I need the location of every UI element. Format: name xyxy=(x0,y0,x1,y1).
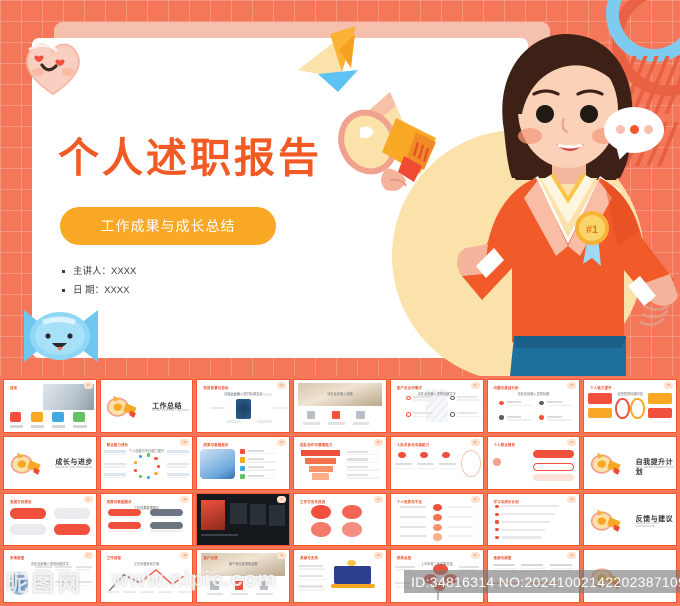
thumbnail-section-subtitle: SELF IMPROVEMENT PLAN xyxy=(636,466,674,469)
slide-thumbnail-19[interactable]: 个人优势与不足15 xyxy=(390,493,484,547)
slide-thumbnail-13[interactable]: 个人职业规划10 xyxy=(487,436,581,490)
watermark-logo: 昵图网 xyxy=(6,566,84,598)
thumbnail-canvas xyxy=(294,380,386,432)
cover-slide-preview[interactable]: #1 个人述职报告 工作成果与成长总结 主讲人 xyxy=(0,0,680,376)
heart-sticker-icon xyxy=(22,38,84,96)
slide-thumbnail-9[interactable]: 职业能力成长个人技能与专业能力提升06 xyxy=(100,436,194,490)
businesswoman-illustration: #1 xyxy=(452,18,680,376)
speech-bubble-tail xyxy=(613,144,632,161)
thumbnail-number-badge: 08 xyxy=(374,439,383,446)
thumbnail-number-badge: 05 xyxy=(664,382,673,389)
thumbnail-number-badge: 02 xyxy=(277,382,286,389)
slide-thumbnail-20[interactable]: 学习与成长计划16 xyxy=(487,493,581,547)
watermark-id: ID:34816314 NO:20241002142202387109 xyxy=(404,570,680,593)
slide-thumbnail-10[interactable]: 成果与数据展示07 xyxy=(196,436,290,490)
thumbnail-number-badge: 07 xyxy=(277,439,286,446)
bubble-dot-2 xyxy=(630,125,639,134)
slide-thumbnail-5[interactable]: 客户与合作情况请在此处输入您的标题文字03 xyxy=(390,379,484,433)
thumbnail-title: 成果总结 xyxy=(397,555,411,560)
meta-date: 日 期：XXXX xyxy=(73,281,130,300)
subtitle-pill-button[interactable]: 工作成果与成长总结 xyxy=(60,207,276,245)
thumbnail-number-badge: 13 xyxy=(277,496,286,503)
thumbnail-number-badge: 22 xyxy=(567,552,576,559)
thumbnail-section-subtitle: GROWTH AND PROGRESS xyxy=(55,466,92,469)
thumbnail-title: 个人职业规划 xyxy=(494,442,516,447)
thumbnail-number-badge: 09 xyxy=(471,439,480,446)
thumbnail-title: 致谢与展望 xyxy=(494,555,512,560)
burst-shard-orange-icon xyxy=(337,32,359,72)
slide-thumbnail-1[interactable]: 目录01 xyxy=(3,379,97,433)
slide-thumbnail-14[interactable]: 自我提升计划SELF IMPROVEMENT PLAN xyxy=(583,436,677,490)
slide-thumbnail-17[interactable]: 13 xyxy=(196,493,290,547)
thumbnail-canvas xyxy=(197,494,289,546)
thumbnail-title: 个人能力提升 xyxy=(590,385,612,390)
thumbnail-title: 未来展望 xyxy=(10,555,24,560)
bubble-dot-3 xyxy=(644,125,653,134)
thumbnail-number-badge: 12 xyxy=(180,496,189,503)
bullet-icon xyxy=(62,270,65,273)
thumbnail-number-badge: 06 xyxy=(180,439,189,446)
slide-thumbnail-11[interactable]: 团队协作与管理能力08 xyxy=(293,436,387,490)
thumbnail-title: 成果与数据展示 xyxy=(107,499,132,504)
thumbnail-section-subtitle: WORK SUMMARY REPORT xyxy=(152,409,189,412)
slide-thumbnail-21[interactable]: 反馈与建议FEEDBACK AND SUGGESTION xyxy=(583,493,677,547)
thumbnail-heading: 请在此处输入标题 xyxy=(327,391,353,396)
thumbnail-heading: 工作流程优化方案 xyxy=(134,561,160,566)
thumbnail-number-badge: 04 xyxy=(567,382,576,389)
page-title: 个人述职报告 xyxy=(58,138,322,179)
thumbnail-number-badge: 21 xyxy=(471,552,480,559)
meta-presenter: 主讲人：XXXX xyxy=(73,262,136,281)
thumbnail-title: 团队协作与管理能力 xyxy=(300,442,332,447)
slide-thumbnail-2[interactable]: 工作总结WORK SUMMARY REPORT xyxy=(100,379,194,433)
thumbnail-heading: 请在此处输入您的标题 xyxy=(517,391,549,396)
slide-thumbnail-12[interactable]: 人际关系与沟通能力09 xyxy=(390,436,484,490)
candy-sticker-icon xyxy=(2,296,118,376)
svg-text:#1: #1 xyxy=(586,224,598,236)
thumbnail-number-badge: 01 xyxy=(84,382,93,389)
thumbnail-number-badge: 10 xyxy=(567,439,576,446)
thumbnail-number-badge: 14 xyxy=(374,496,383,503)
thumbnail-title: 项目背景与目标 xyxy=(203,385,228,390)
thumbnail-number-badge: 03 xyxy=(471,382,480,389)
slide-thumbnail-16[interactable]: 成果与数据展示工作成果数据展示12 xyxy=(100,493,194,547)
slide-thumbnail-7[interactable]: 个人能力提升这是您的标题内容05 xyxy=(583,379,677,433)
watermark-url: www.nipic.com xyxy=(112,568,277,592)
slide-thumbnail-18[interactable]: 工作方法与改进14 xyxy=(293,493,387,547)
thumbnail-number-badge: 20 xyxy=(374,552,383,559)
thumbnail-heading: 请在此处输入您的标题文字 xyxy=(224,391,262,396)
slide-thumbnail-4[interactable]: 请在此处输入标题 xyxy=(293,379,387,433)
bubble-dot-1 xyxy=(616,125,625,134)
thumbnail-heading: 请在此处输入您的标题文字 xyxy=(418,391,456,396)
thumbnail-heading: 这是您的标题内容 xyxy=(617,391,643,396)
thumbnail-title: 客户与合作情况 xyxy=(397,385,422,390)
thumbnail-title: 资源与支持 xyxy=(300,555,318,560)
meta-row-presenter: 主讲人：XXXX xyxy=(62,262,136,281)
thumbnail-number-badge: 16 xyxy=(567,496,576,503)
thumbnail-title: 发展方向规划 xyxy=(10,499,32,504)
slide-thumbnail-3[interactable]: 项目背景与目标请在此处输入您的标题文字02 xyxy=(196,379,290,433)
megaphone-icon xyxy=(328,72,456,196)
screenshot-root: #1 个人述职报告 工作成果与成长总结 主讲人 xyxy=(0,0,680,606)
thumbnail-number-badge: 17 xyxy=(84,552,93,559)
thumbnail-heading: 客户满意度调研结果 xyxy=(229,561,258,566)
slide-thumbnail-25[interactable]: 资源与支持20 xyxy=(293,549,387,603)
slide-thumbnail-8[interactable]: 成长与进步GROWTH AND PROGRESS xyxy=(3,436,97,490)
subtitle-pill-label: 工作成果与成长总结 xyxy=(101,216,236,236)
thumbnail-title: 工作流程 xyxy=(107,555,121,560)
thumbnail-number-badge: 15 xyxy=(471,496,480,503)
thumbnail-title: 个人优势与不足 xyxy=(397,499,422,504)
thumbnail-title: 工作方法与改进 xyxy=(300,499,325,504)
meta-row-date: 日 期：XXXX xyxy=(62,281,136,300)
thumbnail-canvas xyxy=(4,380,96,432)
thumbnail-number-badge: 19 xyxy=(277,552,286,559)
thumbnail-heading: 个人技能与专业能力提升 xyxy=(129,448,164,453)
slide-thumbnail-15[interactable]: 发展方向规划11 xyxy=(3,493,97,547)
thumbnail-title: 客户反馈 xyxy=(203,555,217,560)
bullet-icon xyxy=(62,289,65,292)
thumbnail-title: 目录 xyxy=(10,385,17,390)
thumbnail-title: 问题与挑战分析 xyxy=(494,385,519,390)
thumbnail-title: 职业能力成长 xyxy=(107,442,129,447)
thumbnail-title: 人际关系与沟通能力 xyxy=(397,442,429,447)
slide-thumbnail-6[interactable]: 问题与挑战分析请在此处输入您的标题04 xyxy=(487,379,581,433)
presenter-meta-list: 主讲人：XXXX 日 期：XXXX xyxy=(62,262,136,300)
thumbnail-title: 学习与成长计划 xyxy=(494,499,519,504)
thumbnail-title: 成果与数据展示 xyxy=(203,442,228,447)
thumbnail-heading: 工作成果数据展示 xyxy=(134,505,160,510)
thumbnail-section-subtitle: FEEDBACK AND SUGGESTION xyxy=(636,522,676,528)
thumbnail-heading: 上半年度工作成果总结 xyxy=(421,561,453,566)
thumbnail-number-badge: 11 xyxy=(84,496,93,503)
